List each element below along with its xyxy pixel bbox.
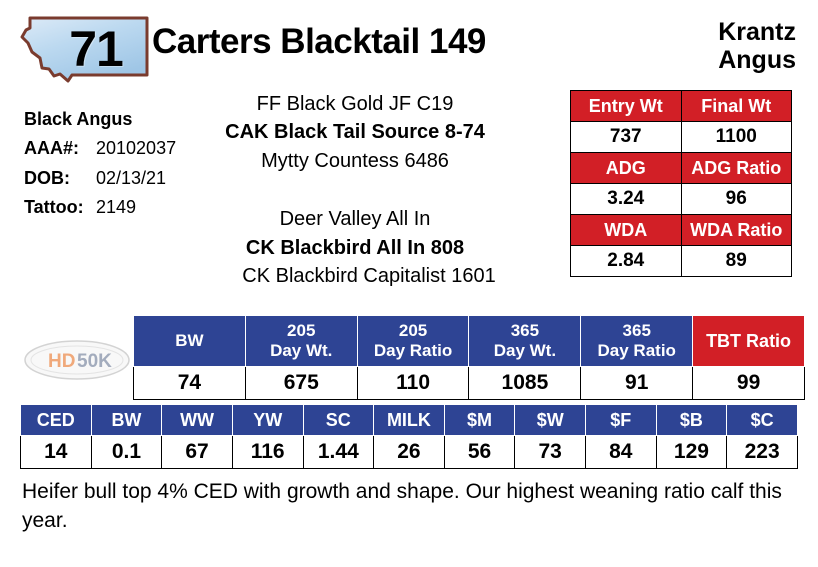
growth-header-row: BW 205 Day Wt. 205 Day Ratio 365 Day Wt.… bbox=[134, 316, 805, 367]
wda-header: WDA bbox=[571, 215, 682, 246]
wt365-header: 365 Day Wt. bbox=[469, 316, 581, 367]
lot-number: 71 bbox=[16, 12, 150, 86]
sire-pedigree-group: FF Black Gold JF C19 CAK Black Tail Sour… bbox=[150, 90, 560, 175]
lot-comment: Heifer bull top 4% CED with growth and s… bbox=[22, 478, 806, 536]
epd-header-f: $F bbox=[586, 405, 657, 436]
epd-value-yw: 116 bbox=[232, 436, 303, 469]
entry-wt-header: Entry Wt bbox=[571, 91, 682, 122]
table-row: ADG ADG Ratio bbox=[571, 153, 792, 184]
epd-value-ww: 67 bbox=[162, 436, 233, 469]
pedigree-block: FF Black Gold JF C19 CAK Black Tail Sour… bbox=[150, 90, 560, 296]
epd-value-c: 223 bbox=[727, 436, 798, 469]
epd-table: CED BW WW YW SC MILK $M $W $F $B $C 14 0… bbox=[20, 404, 798, 469]
sale-catalog-page: 71 Carters Blacktail 149 Krantz Angus Bl… bbox=[0, 0, 818, 567]
dam-pedigree-group: Deer Valley All In CK Blackbird All In 8… bbox=[150, 205, 560, 290]
wda-ratio-header: WDA Ratio bbox=[681, 215, 792, 246]
growth-value-row: 74 675 110 1085 91 99 bbox=[134, 367, 805, 400]
epd-value-sc: 1.44 bbox=[303, 436, 374, 469]
wda-value: 2.84 bbox=[571, 246, 682, 277]
epd-value-ced: 14 bbox=[21, 436, 92, 469]
epd-value-w: 73 bbox=[515, 436, 586, 469]
epd-header-bw: BW bbox=[91, 405, 162, 436]
epd-header-m: $M bbox=[444, 405, 515, 436]
svg-text:HD: HD bbox=[48, 351, 75, 372]
ratio205-value: 110 bbox=[357, 367, 469, 400]
adg-ratio-header: ADG Ratio bbox=[681, 153, 792, 184]
growth-table: BW 205 Day Wt. 205 Day Ratio 365 Day Wt.… bbox=[133, 315, 805, 400]
wt205-header: 205 Day Wt. bbox=[245, 316, 357, 367]
entry-wt-value: 737 bbox=[571, 122, 682, 153]
wt365-value: 1085 bbox=[469, 367, 581, 400]
table-row: 2.84 89 bbox=[571, 246, 792, 277]
epd-header-row: CED BW WW YW SC MILK $M $W $F $B $C bbox=[21, 405, 798, 436]
ratio365-header: 365 Day Ratio bbox=[581, 316, 693, 367]
registration-label: AAA#: bbox=[24, 134, 96, 163]
sire-name: CAK Black Tail Source 8-74 bbox=[150, 118, 560, 146]
epd-value-milk: 26 bbox=[374, 436, 445, 469]
tbt-ratio-value: 99 bbox=[693, 367, 805, 400]
epd-value-bw: 0.1 bbox=[91, 436, 162, 469]
wt205-value: 675 bbox=[245, 367, 357, 400]
bw-header: BW bbox=[134, 316, 246, 367]
epd-header-c: $C bbox=[727, 405, 798, 436]
epd-header-yw: YW bbox=[232, 405, 303, 436]
tattoo-value: 2149 bbox=[96, 197, 136, 217]
dob-label: DOB: bbox=[24, 164, 96, 193]
epd-value-f: 84 bbox=[586, 436, 657, 469]
ratio365-value: 91 bbox=[581, 367, 693, 400]
table-row: 3.24 96 bbox=[571, 184, 792, 215]
tbt-ratio-header: TBT Ratio bbox=[693, 316, 805, 367]
dam-dam-name: CK Blackbird Capitalist 1601 bbox=[150, 262, 560, 290]
bw-value: 74 bbox=[134, 367, 246, 400]
page-header: 71 Carters Blacktail 149 Krantz Angus bbox=[0, 0, 818, 88]
epd-header-b: $B bbox=[656, 405, 727, 436]
adg-ratio-value: 96 bbox=[681, 184, 792, 215]
final-wt-value: 1100 bbox=[681, 122, 792, 153]
epd-value-m: 56 bbox=[444, 436, 515, 469]
epd-value-row: 14 0.1 67 116 1.44 26 56 73 84 129 223 bbox=[21, 436, 798, 469]
table-row: 737 1100 bbox=[571, 122, 792, 153]
animal-name-title: Carters Blacktail 149 bbox=[152, 22, 486, 62]
performance-table: Entry Wt Final Wt 737 1100 ADG ADG Ratio… bbox=[570, 90, 792, 277]
ratio205-header: 205 Day Ratio bbox=[357, 316, 469, 367]
epd-header-w: $W bbox=[515, 405, 586, 436]
wda-ratio-value: 89 bbox=[681, 246, 792, 277]
final-wt-header: Final Wt bbox=[681, 91, 792, 122]
sire-dam-name: Mytty Countess 6486 bbox=[150, 147, 560, 175]
epd-header-ced: CED bbox=[21, 405, 92, 436]
ranch-name-line2: Angus bbox=[718, 46, 796, 74]
epd-header-milk: MILK bbox=[374, 405, 445, 436]
epd-value-b: 129 bbox=[656, 436, 727, 469]
ranch-name: Krantz Angus bbox=[718, 18, 796, 74]
ranch-name-line1: Krantz bbox=[718, 18, 796, 46]
epd-header-ww: WW bbox=[162, 405, 233, 436]
dam-sire-name: Deer Valley All In bbox=[150, 205, 560, 233]
adg-value: 3.24 bbox=[571, 184, 682, 215]
sire-sire-name: FF Black Gold JF C19 bbox=[150, 90, 560, 118]
adg-header: ADG bbox=[571, 153, 682, 184]
epd-header-sc: SC bbox=[303, 405, 374, 436]
hd50k-logo: HD 50K bbox=[22, 338, 132, 382]
dam-name: CK Blackbird All In 808 bbox=[150, 234, 560, 262]
svg-text:50K: 50K bbox=[77, 351, 112, 372]
table-row: WDA WDA Ratio bbox=[571, 215, 792, 246]
table-row: Entry Wt Final Wt bbox=[571, 91, 792, 122]
tattoo-label: Tattoo: bbox=[24, 193, 96, 222]
